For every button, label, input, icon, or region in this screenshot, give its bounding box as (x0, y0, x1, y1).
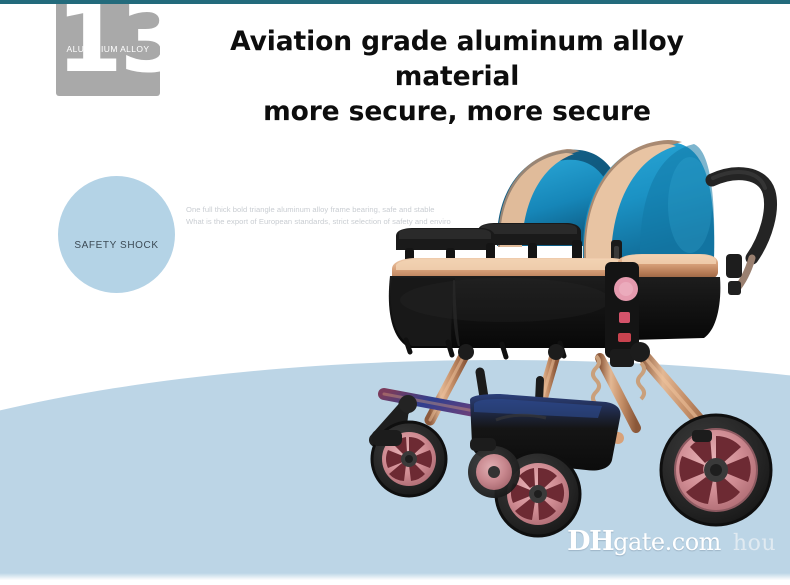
top-accent-strip (0, 0, 790, 4)
watermark-seller: hou (733, 531, 776, 556)
watermark-brand: DHgate.com (567, 526, 721, 557)
headline-line-2: more secure, more secure (172, 94, 742, 129)
watermark-brand-rest: gate.com (613, 528, 721, 556)
canopy-front (583, 140, 714, 259)
page-title: Aviation grade aluminum alloy material m… (172, 24, 742, 130)
badge-caption: ALUMINIUM ALLOY (56, 44, 160, 54)
wheel-rear-right (661, 415, 771, 525)
watermark: DHgate.com hou (567, 526, 776, 557)
wheel-front-right (468, 446, 520, 498)
badge-number: 13 (56, 0, 160, 86)
aluminium-alloy-badge: 13 ALUMINIUM ALLOY (56, 0, 160, 96)
headline-line-1: Aviation grade aluminum alloy material (172, 24, 742, 94)
handlebar (712, 172, 770, 295)
watermark-brand-bold: DH (567, 526, 613, 557)
product-banner: 13 ALUMINIUM ALLOY Aviation grade alumin… (0, 0, 790, 585)
